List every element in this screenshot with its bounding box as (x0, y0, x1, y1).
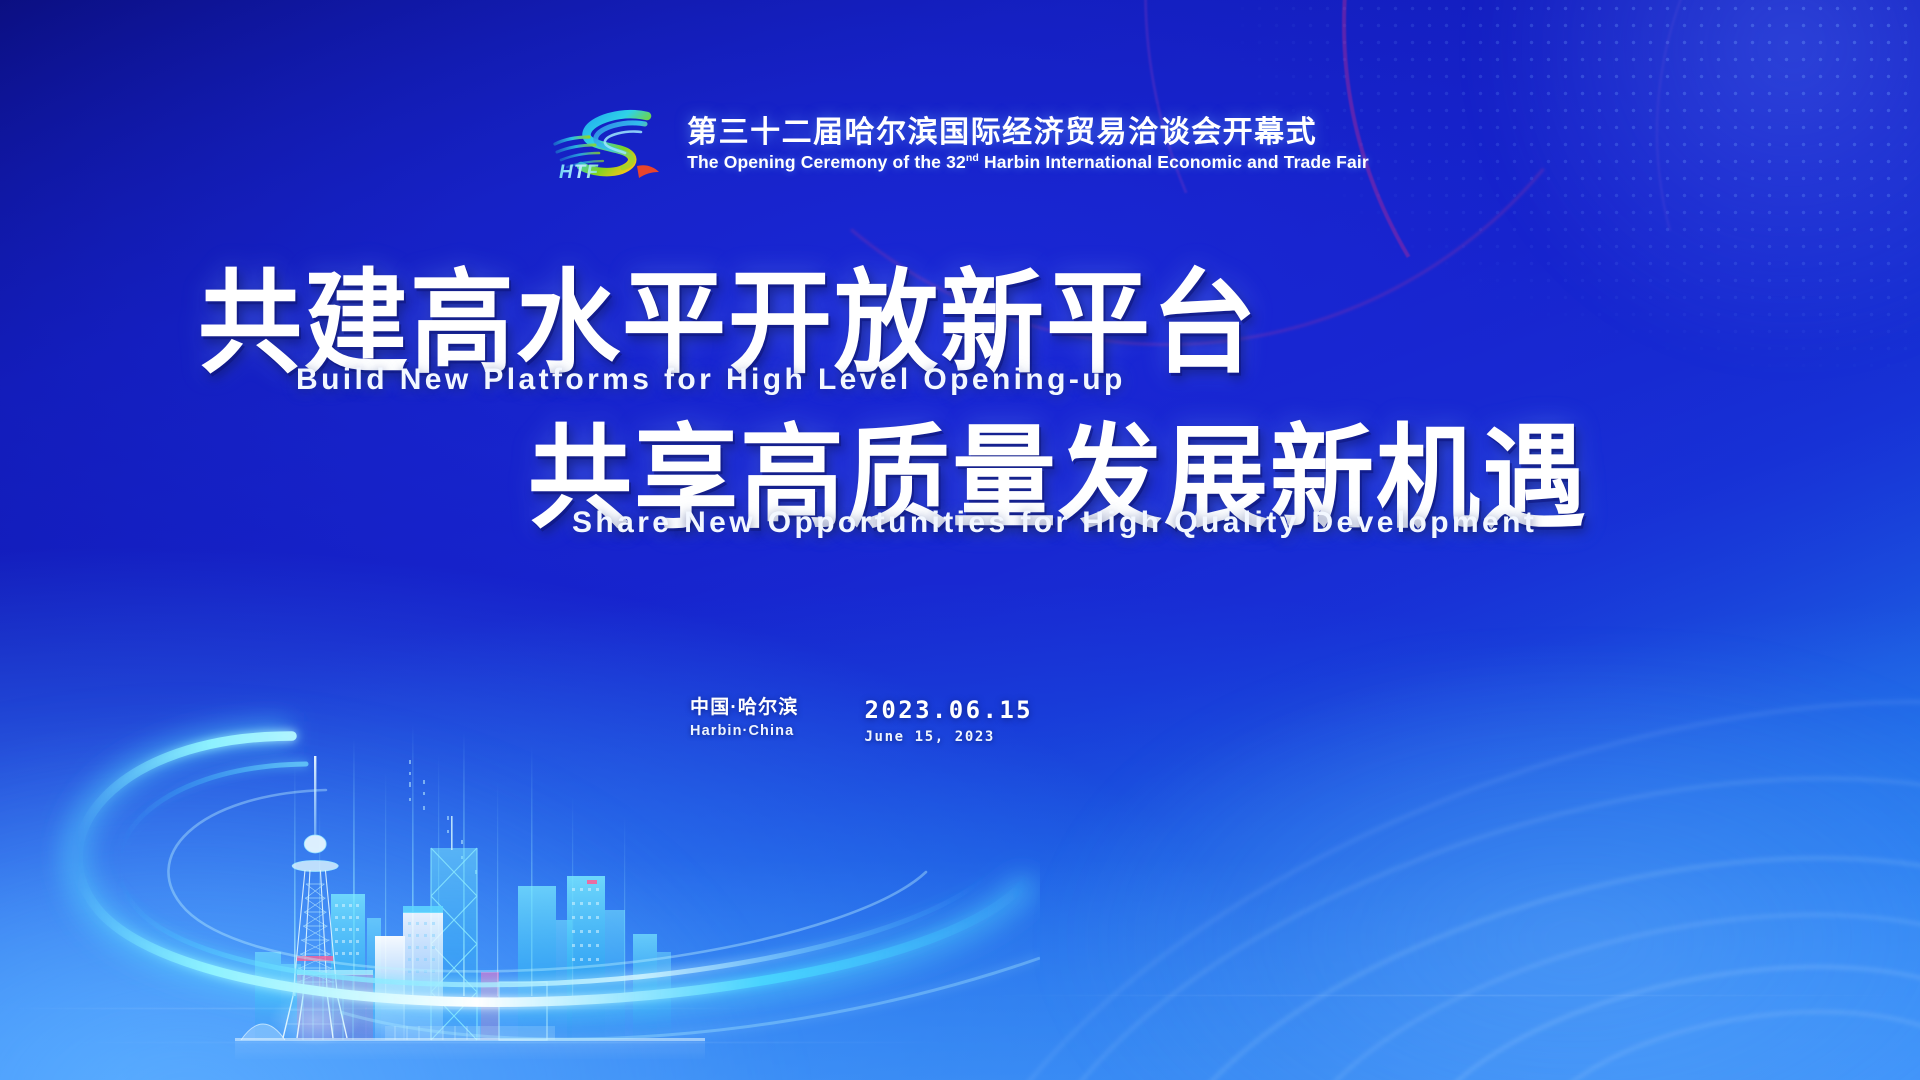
header-title-cn: 第三十二届哈尔滨国际经济贸易洽谈会开幕式 (687, 116, 1369, 150)
light-ribbon-1 (939, 655, 1920, 1080)
magenta-arc-3 (1403, 0, 1920, 397)
htf-logo-icon: HTF (551, 108, 669, 180)
location-en: Harbin·China (690, 723, 799, 740)
bottom-right-glow (970, 660, 1920, 1080)
header-title-ordinal: nd (966, 152, 979, 164)
date-block: 2023.06.15 June 15, 2023 (865, 697, 1034, 745)
light-ribbon-5 (1513, 981, 1920, 1080)
event-backdrop-poster: HTF 第三十二届哈尔滨国际经济贸易洽谈会开幕式 The Opening Cer… (0, 0, 1920, 1080)
date-english: June 15, 2023 (865, 729, 1034, 745)
top-right-glow (1420, 0, 1920, 360)
headline-1-en: Build New Platforms for High Level Openi… (296, 365, 1126, 395)
light-ribbon-4 (1386, 919, 1920, 1080)
location-block: 中国·哈尔滨 Harbin·China (690, 697, 799, 740)
light-ribbon-2 (1093, 764, 1920, 1080)
headline-2-en: Share New Opportunities for High Quality… (572, 508, 1537, 538)
date-numeric: 2023.06.15 (865, 697, 1034, 725)
light-ribbon-3 (1246, 846, 1920, 1080)
header-title-en-before: The Opening Ceremony of the 32 (687, 152, 966, 172)
magenta-arc-4 (1516, 0, 1920, 654)
location-cn: 中国·哈尔滨 (690, 697, 799, 719)
halftone-dot-grid (1200, 0, 1920, 430)
htf-logo-text: HTF (559, 162, 599, 180)
event-header-lockup: HTF 第三十二届哈尔滨国际经济贸易洽谈会开幕式 The Opening Cer… (0, 108, 1920, 180)
header-title-en: The Opening Ceremony of the 32nd Harbin … (687, 152, 1369, 172)
header-title-en-after: Harbin International Economic and Trade … (979, 152, 1369, 172)
event-meta-block: 中国·哈尔滨 Harbin·China 2023.06.15 June 15, … (690, 697, 1033, 745)
